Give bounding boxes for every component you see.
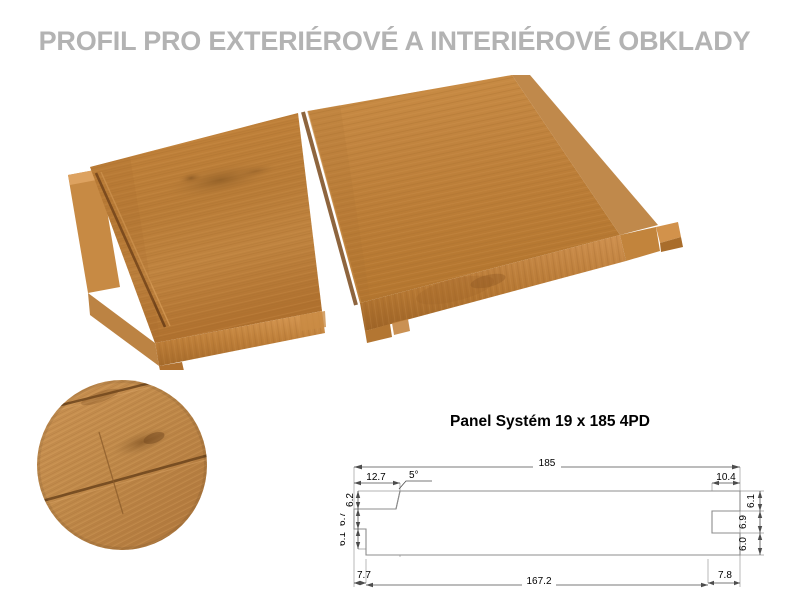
dim-bottom-row: 7.7 167.2 7.8	[354, 570, 740, 587]
profile-cross-section: 185 12.7 5° 10.4	[340, 437, 789, 597]
wood-cladding-panels-photo	[60, 75, 750, 370]
dim-top-left-offset: 12.7	[354, 472, 400, 485]
dim-value-bottom-left: 7.7	[357, 570, 371, 581]
dim-value-overall-width: 185	[539, 458, 556, 469]
dim-value-chamfer-angle: 5°	[409, 470, 419, 481]
technical-drawing: Panel Systém 19 x 185 4PD	[340, 405, 789, 595]
dim-value-left-vertical-1: 6.2	[345, 493, 356, 507]
dim-right-vertical: 6.1 6.9 6.0	[738, 491, 762, 555]
product-sheet-page: PROFIL PRO EXTERIÉROVÉ A INTERIÉROVÉ OBK…	[0, 0, 789, 600]
profile-outline	[354, 491, 740, 555]
page-title: PROFIL PRO EXTERIÉROVÉ A INTERIÉROVÉ OBK…	[0, 26, 789, 57]
dim-value-left-vertical-3: 6.1	[340, 532, 348, 546]
left-board	[90, 113, 322, 343]
wood-surface-circular-swatch	[37, 380, 207, 550]
dim-chamfer-angle: 5°	[399, 470, 432, 489]
dim-value-top-right-offset: 10.4	[716, 472, 736, 483]
dim-overall-width: 185	[354, 457, 740, 469]
dim-value-bottom-right: 7.8	[718, 570, 732, 581]
dim-value-left-vertical-2: 6.7	[340, 512, 348, 526]
dim-value-right-vertical-2: 6.9	[738, 515, 749, 529]
dim-top-right-offset: 10.4	[712, 472, 740, 485]
dim-value-right-vertical-1: 6.1	[746, 494, 757, 508]
drawing-title: Panel Systém 19 x 185 4PD	[340, 413, 760, 431]
dim-value-top-left-offset: 12.7	[366, 472, 386, 483]
dim-value-bottom-middle: 167.2	[526, 576, 551, 587]
dim-value-right-vertical-3: 6.0	[738, 537, 749, 551]
